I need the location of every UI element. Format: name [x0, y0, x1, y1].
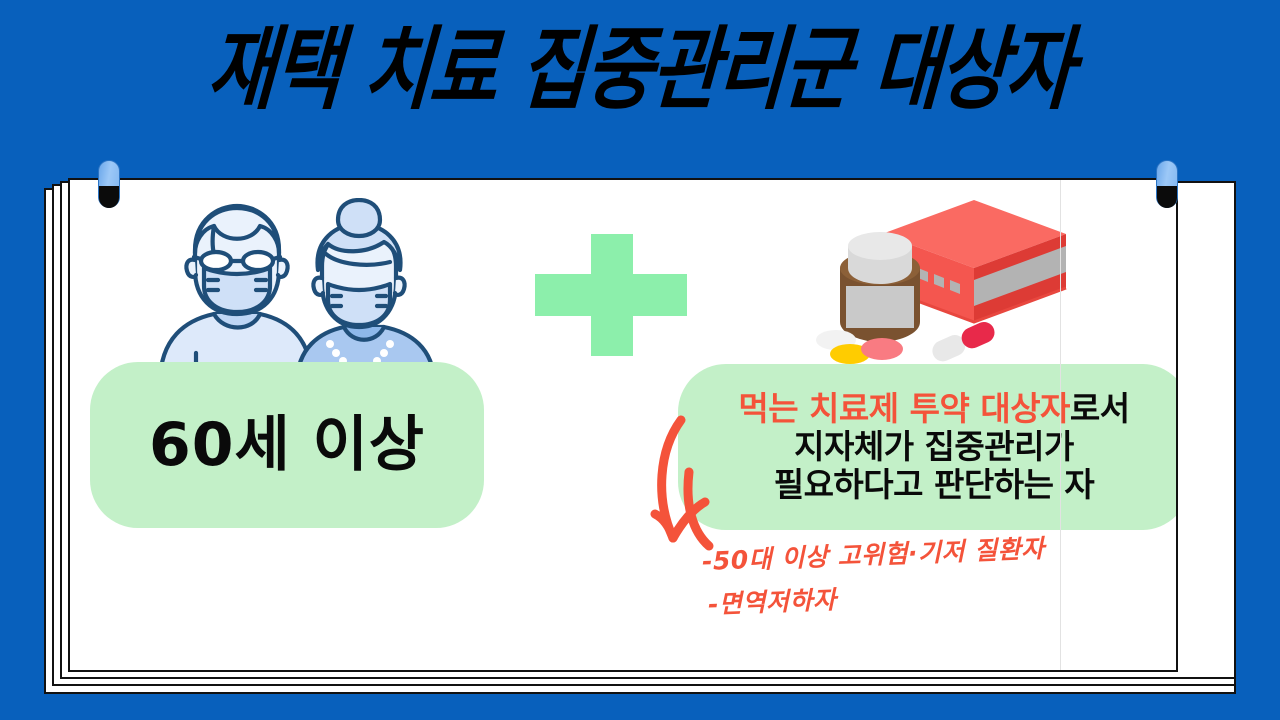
page-title: 재택 치료 집중관리군 대상자 — [205, 25, 1076, 115]
criteria-right-line-1-rest: 로서 — [1070, 389, 1130, 428]
title-bar: 재택 치료 집중관리군 대상자 — [0, 10, 1280, 130]
medicine-icon — [814, 194, 1084, 366]
paper-sheet: 60세 이상 먹는 치료제 투약 대상자로서 지자체가 집중관리가 필요하다고 … — [68, 178, 1178, 672]
annotation-line-2: -면역저하자 — [707, 580, 837, 621]
elderly-couple-icon — [152, 198, 442, 383]
criteria-right-line-2: 지자체가 집중관리가 — [794, 428, 1074, 466]
criteria-left-label: 60세 이상 — [149, 415, 425, 475]
paper-clip-right-icon — [1156, 160, 1178, 216]
criteria-right-highlight: 먹는 치료제 투약 대상자 — [738, 389, 1070, 428]
plus-icon — [535, 234, 687, 356]
paper-clip-right-tip — [1157, 186, 1177, 208]
paper-clip-left-icon — [98, 160, 120, 216]
criteria-right-line-1: 먹는 치료제 투약 대상자로서 — [738, 390, 1129, 428]
criteria-left-box: 60세 이상 — [90, 362, 484, 528]
criteria-right-line-3: 필요하다고 판단하는 자 — [774, 466, 1095, 504]
paper-fold-line — [1060, 180, 1061, 672]
paper-clip-left-tip — [99, 186, 119, 208]
slide-root: 재택 치료 집중관리군 대상자 — [0, 0, 1280, 720]
criteria-right-box: 먹는 치료제 투약 대상자로서 지자체가 집중관리가 필요하다고 판단하는 자 — [678, 364, 1178, 530]
annotation-line-1: -50대 이상 고위험·기저 질환자 — [701, 529, 1045, 578]
plus-icon-vertical-bar — [591, 234, 633, 356]
